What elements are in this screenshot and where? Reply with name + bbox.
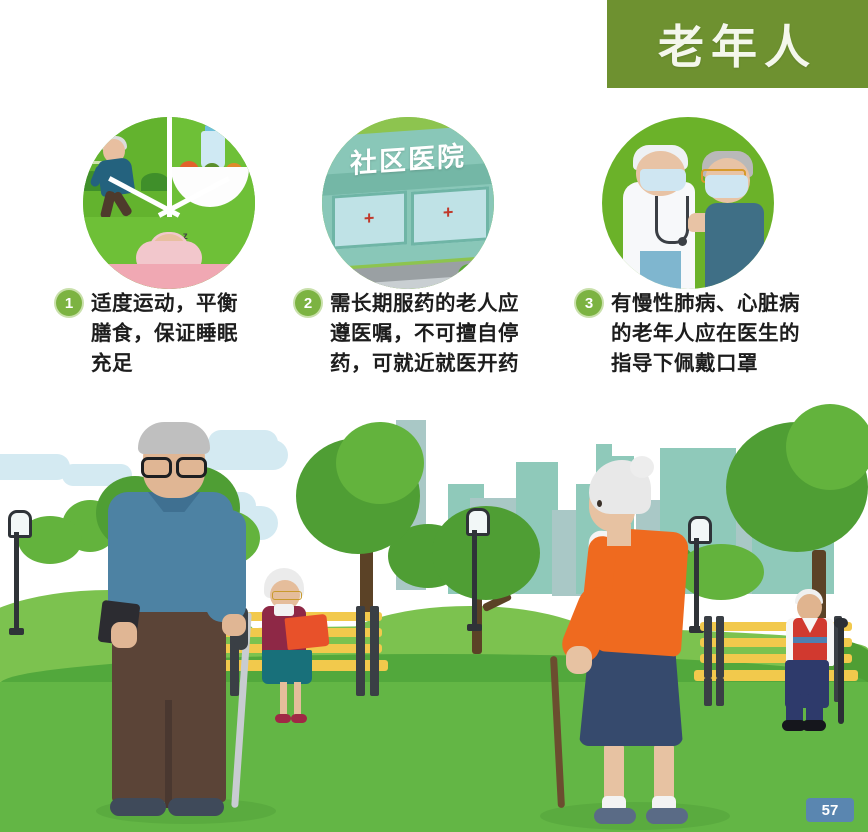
bullet-item-1: 1 适度运动，平衡 膳食，保证睡眠 充足: [56, 288, 291, 378]
shrub-icon: [458, 264, 480, 286]
seated-man-vest-stripe: [793, 637, 827, 643]
walking-woman-hair-bun: [630, 456, 654, 478]
bullet-number-badge-3: 3: [576, 290, 602, 316]
patient-face-mask-icon: [705, 175, 748, 197]
standing-man-leg-seam: [165, 700, 172, 808]
lamp-base: [467, 624, 482, 631]
glasses-lens: [176, 457, 207, 478]
bullet-line: 指导下佩戴口罩: [611, 348, 800, 378]
red-cross-icon: +: [364, 208, 375, 227]
hospital-window: +: [332, 190, 407, 249]
bullet-item-3: 3 有慢性肺病、心脏病 的老年人应在医生的 指导下佩戴口罩: [576, 288, 846, 378]
bullet-line: 膳食，保证睡眠: [91, 318, 238, 348]
lamp-head-icon: [466, 508, 490, 536]
page-number-badge: 57: [806, 798, 854, 822]
cloud-icon: [0, 454, 70, 480]
bullet-text-1: 适度运动，平衡 膳食，保证睡眠 充足: [91, 288, 238, 378]
standing-man-shoe: [168, 798, 224, 816]
glasses-lens: [141, 457, 172, 478]
bush-icon: [678, 544, 764, 600]
bullet-line: 的老年人应在医生的: [611, 318, 800, 348]
walking-woman-leg: [654, 742, 674, 804]
page-title: 老年人: [658, 11, 817, 77]
bullet-item-2: 2 需长期服药的老人应 遵医嘱，不可擅自停 药，可就近就医开药: [295, 288, 560, 378]
standing-man-hair: [138, 422, 210, 454]
park-illustration: 57: [0, 400, 868, 832]
walking-woman-shoe: [646, 808, 688, 824]
infographic-page: 老年人 z: [0, 0, 868, 832]
reading-woman-collar: [274, 604, 294, 616]
lifestyle-pie-icon: z: [83, 117, 255, 289]
walking-woman-hand: [566, 646, 592, 674]
reading-woman-shoe: [275, 714, 291, 723]
walking-woman-eye: [597, 500, 602, 507]
standing-man-hand: [222, 614, 246, 636]
blanket-icon: [93, 264, 244, 289]
doctor-consultation-icon: [602, 117, 774, 289]
standing-man-glasses-icon: [141, 457, 207, 472]
book-icon: [284, 614, 329, 650]
tree-canopy: [786, 404, 868, 490]
bench-leg: [704, 616, 712, 678]
red-cross-icon: +: [443, 203, 454, 222]
bench-leg: [716, 678, 724, 706]
lamp-post: [14, 532, 19, 632]
walking-cane-icon: [838, 622, 844, 724]
lamp-post: [472, 530, 477, 628]
standing-man-shoe: [110, 798, 166, 816]
bench-leg: [230, 668, 239, 696]
bullet-line: 充足: [91, 348, 238, 378]
bench-leg: [704, 678, 712, 706]
reading-woman-skirt: [262, 650, 312, 684]
reading-woman-leg: [294, 682, 301, 718]
bush-icon: [141, 173, 169, 191]
reading-woman-glasses-icon: [272, 591, 302, 600]
bench-leg: [356, 606, 365, 696]
bench-leg: [716, 616, 724, 678]
patient-torso: [705, 203, 763, 289]
hospital-window: +: [411, 186, 489, 246]
tree-canopy: [336, 422, 424, 504]
lamp-head-icon: [688, 516, 712, 544]
seated-man-shoe: [802, 720, 826, 731]
bullet-line: 药，可就近就医开药: [330, 348, 519, 378]
reading-woman-shoe: [291, 714, 307, 723]
seated-man-head: [797, 594, 822, 621]
doctor-scrubs: [640, 251, 681, 289]
bullet-line: 适度运动，平衡: [91, 288, 238, 318]
lamp-post: [694, 538, 699, 630]
standing-man-arm: [206, 510, 246, 622]
exerciser-leg: [111, 190, 133, 217]
bench-leg: [370, 606, 379, 696]
bullet-number-badge-1: 1: [56, 290, 82, 316]
walking-woman-shoe: [594, 808, 636, 824]
bullet-text-2: 需长期服药的老人应 遵医嘱，不可擅自停 药，可就近就医开药: [330, 288, 519, 378]
doctor-face-mask-icon: [640, 169, 686, 191]
page-title-banner: 老年人: [607, 0, 868, 88]
walking-woman-leg: [604, 742, 624, 804]
lamp-base: [9, 628, 24, 635]
bullet-text-3: 有慢性肺病、心脏病 的老年人应在医生的 指导下佩戴口罩: [611, 288, 800, 378]
bullet-line: 需长期服药的老人应: [330, 288, 519, 318]
sleep-segment: z: [83, 217, 255, 289]
community-hospital-icon: 社区医院 + +: [322, 117, 494, 289]
reading-woman-leg: [280, 682, 287, 718]
lamp-head-icon: [8, 510, 32, 538]
standing-man-hand: [111, 622, 137, 648]
pie-divider: [167, 117, 172, 217]
bullet-number-badge-2: 2: [295, 290, 321, 316]
cloud-icon: [208, 430, 278, 456]
bullet-line: 遵医嘱，不可擅自停: [330, 318, 519, 348]
bullet-line: 有慢性肺病、心脏病: [611, 288, 800, 318]
